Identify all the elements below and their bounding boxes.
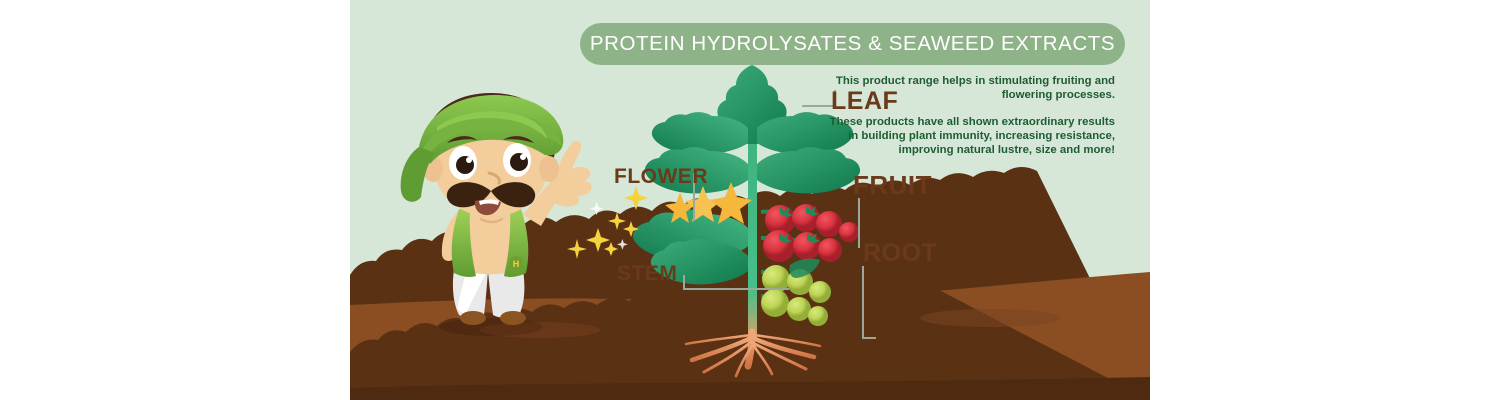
character-eye-highlight [520, 154, 526, 160]
illustration-panel: H [350, 0, 1150, 400]
title-banner: PROTEIN HYDROLYSATES & SEAWEED EXTRACTS [580, 23, 1125, 65]
leader-line-stem-tick [683, 275, 685, 289]
leader-line-stem [683, 288, 789, 290]
plant-leaf [789, 259, 820, 278]
plant-unripe-fruits [761, 259, 831, 326]
character-foot [500, 311, 526, 325]
leader-line-root [862, 266, 864, 338]
soil-texture-mound [920, 309, 1060, 327]
infographic-canvas: H [0, 0, 1500, 400]
paragraph-benefits: These products have all shown extraordin… [820, 115, 1115, 157]
leader-line-fruit [858, 198, 860, 248]
paragraph-intro: This product range helps in stimulating … [830, 74, 1115, 102]
label-flower: FLOWER [614, 165, 708, 189]
character-foot [460, 311, 486, 325]
leader-line-root-foot [862, 337, 876, 339]
title-banner-text: PROTEIN HYDROLYSATES & SEAWEED EXTRACTS [590, 32, 1115, 56]
character-shadow [439, 318, 543, 336]
plant-roots [686, 332, 820, 376]
svg-text:H: H [513, 259, 520, 269]
label-stem: STEM [617, 262, 677, 286]
label-fruit: FRUIT [853, 170, 932, 201]
label-root: ROOT [863, 239, 937, 268]
character-ear [539, 156, 559, 182]
character-eye-highlight [466, 157, 472, 163]
plant-ripe-fruits [761, 204, 859, 262]
